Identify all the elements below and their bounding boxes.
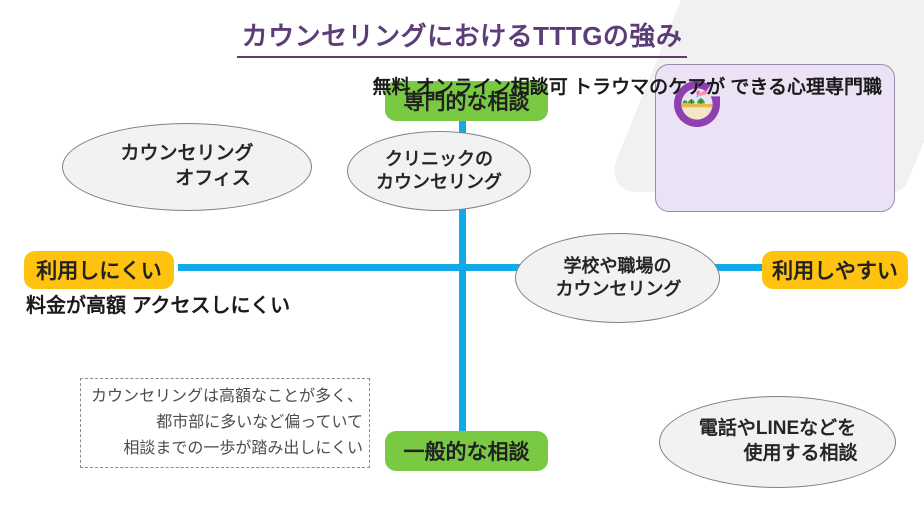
page-title: カウンセリングにおけるTTTGの強み bbox=[0, 16, 924, 53]
note-line-3: 相談までの一歩が踏み出しにくい bbox=[123, 436, 363, 462]
axis-label-hard-to-use[interactable]: 利用しにくい bbox=[24, 251, 174, 289]
highlight-card-text: 無料 オンライン相談可 トラウマのケアが できる心理専門職 bbox=[372, 75, 882, 102]
highlight-line-4: できる心理専門職 bbox=[730, 77, 882, 98]
bubble-phone-line-1: 電話やLINEなどを bbox=[699, 417, 856, 442]
bubble-clinic-line-1: クリニックの bbox=[385, 148, 493, 171]
note-box: カウンセリングは高額なことが多く、 都市部に多いなど偏っていて 相談までの一歩が… bbox=[80, 378, 370, 468]
drawback-line-1: 料金が高額 bbox=[26, 295, 126, 317]
highlight-line-1: 無料 bbox=[372, 77, 410, 98]
slide-canvas: カウンセリングにおけるTTTGの強み 専門的な相談 一般的な相談 利用しにくい … bbox=[0, 0, 924, 520]
left-drawback-notes: 料金が高額 アクセスしにくい bbox=[26, 292, 290, 321]
bubble-phone-line-counseling[interactable]: 電話やLINEなどを 使用する相談 bbox=[659, 396, 896, 488]
drawback-line-2: アクセスしにくい bbox=[132, 295, 291, 317]
bubble-school-line-1: 学校や職場の bbox=[564, 255, 672, 278]
highlight-line-3: トラウマのケアが bbox=[573, 77, 725, 98]
bubble-phone-line-2: 使用する相談 bbox=[743, 442, 857, 467]
highlight-line-2: オンライン相談可 bbox=[416, 77, 568, 98]
axis-label-general[interactable]: 一般的な相談 bbox=[385, 431, 548, 471]
axis-label-easy-to-use[interactable]: 利用しやすい bbox=[762, 251, 908, 289]
bubble-clinic-line-2: カウンセリング bbox=[376, 171, 502, 194]
note-line-1: カウンセリングは高額なことが多く、 bbox=[91, 384, 363, 410]
title-underline bbox=[237, 56, 687, 58]
bubble-clinic-counseling[interactable]: クリニックの カウンセリング bbox=[347, 131, 531, 211]
bubble-school-workplace-counseling[interactable]: 学校や職場の カウンセリング bbox=[515, 233, 720, 323]
note-line-2: 都市部に多いなど偏っていて bbox=[156, 410, 363, 436]
bubble-office-line-1: カウンセリング bbox=[120, 142, 253, 167]
bubble-office-line-2: オフィス bbox=[175, 167, 251, 192]
bubble-school-line-2: カウンセリング bbox=[556, 278, 682, 301]
highlight-card-tttg[interactable]: 無料 オンライン相談可 トラウマのケアが できる心理専門職 bbox=[655, 64, 895, 212]
bubble-counseling-office[interactable]: カウンセリング オフィス bbox=[62, 123, 312, 211]
